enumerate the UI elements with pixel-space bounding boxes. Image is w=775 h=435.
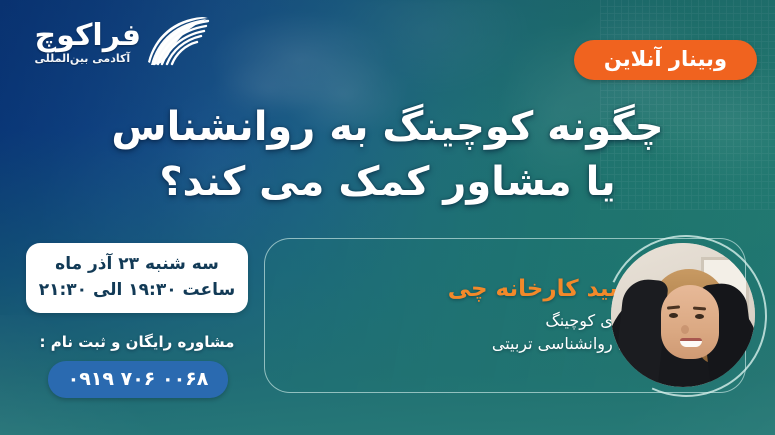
cta-label: مشاوره رایگان و ثبت نام : [26,333,248,351]
avatar [605,235,767,397]
page-title: چگونه کوچینگ به روانشناس یا مشاور کمک می… [30,100,745,210]
online-webinar-badge: وبینار آنلاین [574,40,757,80]
headline-line-1: چگونه کوچینگ به روانشناس [30,100,745,155]
instructor-card: مدرس دکتر مهشید کارخانه چی مدرس مهارت‌ها… [264,238,746,393]
swoosh-icon [147,16,213,70]
schedule-box: سه شنبه ۲۳ آذر ماه ساعت ۱۹:۳۰ الی ۲۱:۳۰ [26,243,248,313]
brand-logo[interactable]: فراکوچ آکادمی بین‌المللی [18,12,213,74]
schedule-date: سه شنبه ۲۳ آذر ماه [34,252,240,278]
instructor-photo [611,243,755,387]
logo-name: فراکوچ [35,21,141,51]
logo-tagline: آکادمی بین‌المللی [35,53,131,64]
schedule-time: ساعت ۱۹:۳۰ الی ۲۱:۳۰ [34,278,240,304]
phone-number-button[interactable]: ۰۹۱۹ ۷۰۶ ۰۰۶۸ [48,361,228,398]
webinar-banner: فراکوچ آکادمی بین‌المللی وبینار آنلاین چ… [0,0,775,435]
headline-line-2: یا مشاور کمک می کند؟ [30,155,745,210]
